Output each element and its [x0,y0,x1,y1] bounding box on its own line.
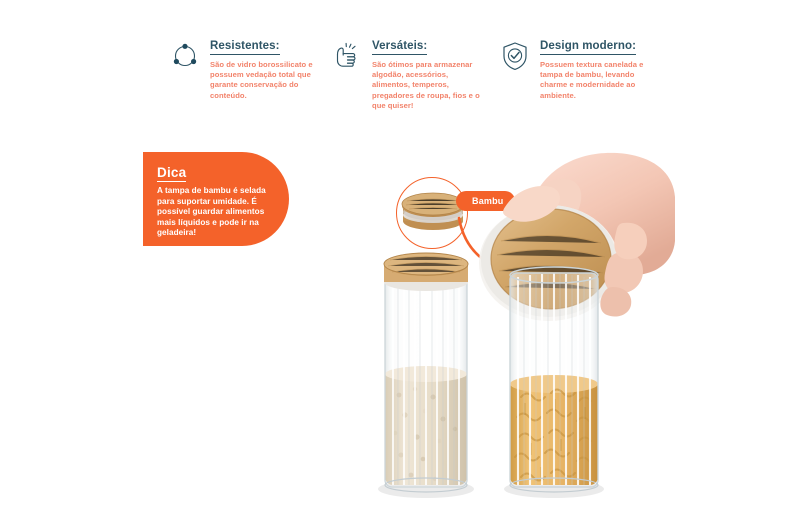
glass-jar-with-rice [378,253,474,498]
molecule-icon [168,36,202,80]
feature-body: São ótimos para armazenar algodão, acess… [372,60,484,111]
feature-body: Possuem textura canelada e tampa de bamb… [540,60,658,101]
feature-body: São de vidro borossilicato e possuem ved… [210,60,322,101]
feature-design-moderno: Design moderno: Possuem textura canelada… [498,36,658,101]
product-photo-group [355,145,675,505]
feature-resistentes: Resistentes: São de vidro borossilicato … [168,36,322,101]
feature-heading: Versáteis: [372,40,427,55]
shield-check-icon [498,36,532,80]
pointing-hand-icon [330,36,364,80]
feature-heading: Design moderno: [540,40,636,55]
tip-box: Dica A tampa de bambu é selada para supo… [143,152,289,246]
feature-versateis: Versáteis: São ótimos para armazenar alg… [330,36,484,111]
tip-body: A tampa de bambu é selada para suportar … [157,186,277,239]
product-infographic-page: Resistentes: São de vidro borossilicato … [0,0,800,514]
tip-title: Dica [157,165,186,182]
glass-jar-with-pasta [504,267,604,498]
feature-row: Resistentes: São de vidro borossilicato … [0,36,800,116]
feature-heading: Resistentes: [210,40,280,55]
